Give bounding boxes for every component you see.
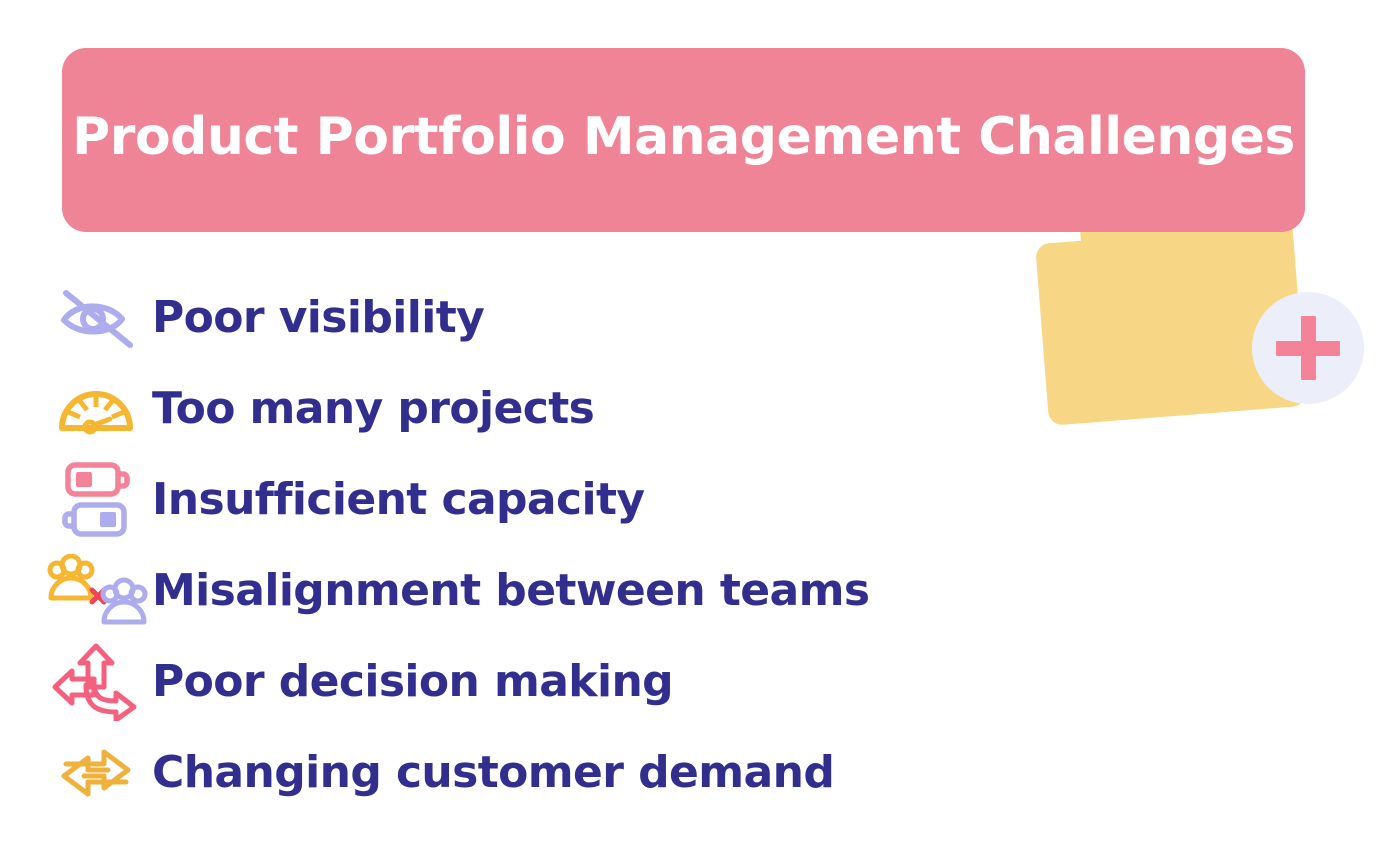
plus-icon-vertical <box>1301 316 1316 380</box>
page-title: Product Portfolio Management Challenges <box>72 107 1295 167</box>
list-item-label: Changing customer demand <box>152 751 834 795</box>
low-battery-icon <box>40 460 152 540</box>
add-plus-badge <box>1252 292 1364 404</box>
list-item-label: Misalignment between teams <box>152 569 869 613</box>
list-item: Poor visibility <box>40 272 1040 363</box>
gauge-icon <box>40 369 152 449</box>
list-item: Poor decision making <box>40 636 1040 727</box>
exchange-arrows-icon <box>40 733 152 813</box>
list-item-label: Poor visibility <box>152 296 484 340</box>
teams-mismatch-icon <box>40 551 152 631</box>
list-item: Insufficient capacity <box>40 454 1040 545</box>
list-item: Misalignment between teams <box>40 545 1040 636</box>
three-way-arrows-icon <box>40 642 152 722</box>
page-title-banner: Product Portfolio Management Challenges <box>62 48 1305 232</box>
list-item-label: Poor decision making <box>152 660 673 704</box>
eye-off-icon <box>40 278 152 358</box>
list-item-label: Insufficient capacity <box>152 478 645 522</box>
list-item: Changing customer demand <box>40 727 1040 818</box>
challenges-list: Poor visibility Too many projects <box>40 272 1040 818</box>
list-item-label: Too many projects <box>152 387 594 431</box>
list-item: Too many projects <box>40 363 1040 454</box>
